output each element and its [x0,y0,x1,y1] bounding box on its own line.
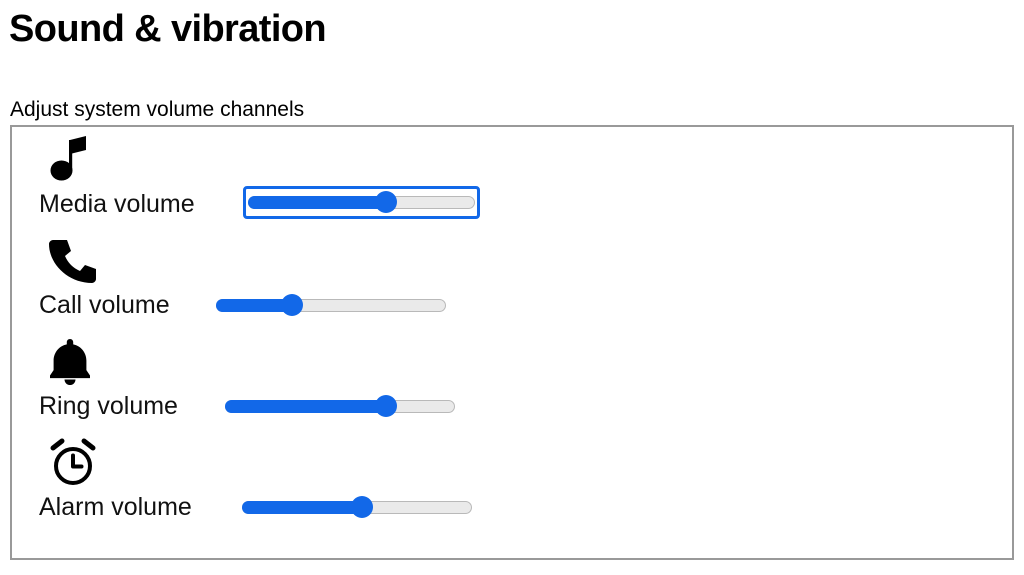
channel-row: Call volume [12,232,1012,332]
slider-fill [248,196,386,209]
bell-icon [48,335,100,387]
alarm-volume-slider[interactable] [242,494,472,520]
alarm-clock-icon [48,436,100,488]
slider-thumb[interactable] [281,294,303,316]
slider-inner[interactable] [242,494,472,520]
channel-row: Ring volume [12,333,1012,433]
phone-icon [48,234,100,286]
slider-fill [225,400,386,413]
channel-row: Media volume [12,131,1012,231]
music-note-icon [48,133,100,185]
slider-inner[interactable] [225,393,455,419]
channel-label-alarm: Alarm volume [39,490,192,524]
call-volume-slider[interactable] [216,292,446,318]
sound-and-vibration-page: Sound & vibration Adjust system volume c… [0,0,1024,575]
slider-thumb[interactable] [375,395,397,417]
media-volume-slider[interactable] [243,186,480,219]
slider-inner[interactable] [248,190,475,215]
slider-thumb[interactable] [351,496,373,518]
slider-thumb[interactable] [375,191,397,213]
page-title: Sound & vibration [9,6,326,52]
channel-label-call: Call volume [39,288,170,322]
ring-volume-slider[interactable] [225,393,455,419]
section-subtitle: Adjust system volume channels [10,96,304,124]
slider-fill [242,501,362,514]
slider-inner[interactable] [216,292,446,318]
channel-label-ring: Ring volume [39,389,178,423]
channel-row: Alarm volume [12,434,1012,534]
volume-channels-panel: Media volume Call volume [10,125,1014,560]
channel-label-media: Media volume [39,187,195,221]
